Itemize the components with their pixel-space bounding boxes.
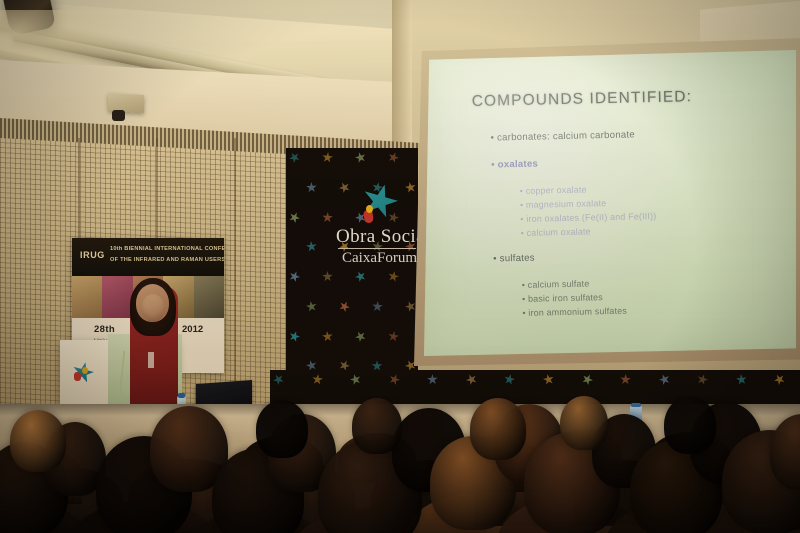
conference-photo: Obra Social CaixaForum COMPOUNDS IDENTIF…: [0, 0, 800, 533]
audience: [0, 396, 800, 533]
slide-item-basic-iron-sulfates: • basic iron sulfates: [522, 288, 788, 304]
audience-member-head: [256, 400, 308, 458]
caixa-yellow-accent-icon: [366, 205, 373, 213]
caixa-star-icon: [696, 373, 710, 387]
caixa-star-icon: [287, 210, 302, 225]
caixa-star-icon: [387, 330, 400, 343]
banner-photo: [194, 276, 224, 318]
caixa-star-icon: [503, 373, 516, 386]
caixa-star-icon: [580, 372, 595, 387]
caixa-star-icon: [353, 269, 368, 284]
caixa-star-icon: [322, 211, 334, 223]
caixa-star-icon: [322, 330, 334, 342]
banner-title-line-2: OF THE INFRARED AND RAMAN USERS GROUP: [110, 257, 224, 263]
caixa-star-icon: [287, 150, 302, 165]
projector-lens-icon: [112, 110, 125, 121]
banner-title-line-1: 10th BIENNIAL INTERNATIONAL CONFERENCE: [110, 246, 224, 252]
slide-item-iron-ammonium-sulfates: • iron ammonium sulfates: [522, 302, 788, 318]
caixa-star-icon: [349, 373, 363, 387]
caixa-star-icon: [353, 329, 368, 344]
slide-title: COMPOUNDS IDENTIFIED:: [472, 88, 693, 111]
caixa-yellow-accent-icon: [82, 367, 88, 374]
caixa-star-icon: [620, 374, 632, 386]
caixa-star-icon: [271, 372, 286, 387]
caixa-star-icon: [542, 373, 555, 386]
caixa-star-icon: [427, 374, 438, 385]
audience-member-head: [352, 398, 402, 454]
audience-member-head: [10, 410, 66, 472]
audience-member-head: [664, 396, 716, 454]
slide-group-carbonates: • carbonates: calcium carbonate: [484, 126, 784, 144]
slide-item-calcium-sulfate: • calcium sulfate: [522, 274, 788, 290]
caixa-star-icon: [311, 373, 323, 385]
caixa-red-accent-icon: [74, 372, 81, 381]
caixa-star-icon: [305, 241, 317, 253]
caixa-star-icon: [464, 372, 479, 387]
banner-photo: [102, 276, 132, 318]
caixa-star-icon: [403, 299, 417, 313]
caixa-star-icon: [772, 372, 787, 387]
slide-item-magnesium-oxalate: • magnesium oxalate: [520, 194, 786, 210]
slide-item-calcium-oxalate: • calcium oxalate: [521, 222, 787, 238]
audience-member-head: [560, 396, 608, 450]
caixa-star-icon: [305, 300, 318, 313]
caixa-star-icon: [371, 301, 383, 313]
slide-item-iron-oxalates: • iron oxalates (Fe(II) and Fe(III)): [520, 208, 786, 224]
slide-item-copper-oxalate: • copper oxalate: [520, 180, 786, 196]
banner-year: 2012: [182, 324, 203, 335]
caixa-star-icon: [386, 150, 400, 164]
caixa-star-icon: [354, 151, 368, 165]
slide-group-sulfates: • sulfates • calcium sulfate • basic iro…: [487, 247, 788, 319]
slide-heading-sulfates: • sulfates: [493, 247, 787, 264]
audience-member-head: [470, 398, 526, 460]
caixa-star-icon: [321, 151, 333, 163]
caixa-star-icon: [387, 270, 400, 283]
slide-group-oxalates: • oxalates • copper oxalate • magnesium …: [485, 153, 787, 239]
irug-logo: IRUG: [80, 250, 105, 260]
caixa-star-icon: [337, 299, 352, 314]
sponsor-line-2: CaixaForum: [342, 250, 417, 267]
caixa-star-icon: [657, 372, 671, 386]
slide-heading-oxalates: • oxalates: [491, 153, 785, 170]
banner-photo: [72, 276, 102, 318]
sponsor-line-1: Obra Social: [336, 226, 431, 248]
speaker-face: [141, 294, 165, 322]
slide-body: • carbonates: calcium carbonate • oxalat…: [484, 126, 788, 322]
caixa-star-icon: [288, 329, 302, 343]
caixa-star-icon: [387, 372, 401, 386]
caixa-star-icon: [322, 271, 333, 282]
projection-screen: COMPOUNDS IDENTIFIED: • carbonates: calc…: [424, 50, 796, 356]
slide-heading-carbonates: • carbonates: calcium carbonate: [490, 126, 784, 143]
caixa-star-icon: [305, 182, 316, 193]
caixa-star-icon: [287, 269, 301, 283]
speaker-badge: [148, 352, 154, 368]
sponsor-divider: [338, 248, 416, 249]
caixa-star-icon: [735, 373, 747, 385]
